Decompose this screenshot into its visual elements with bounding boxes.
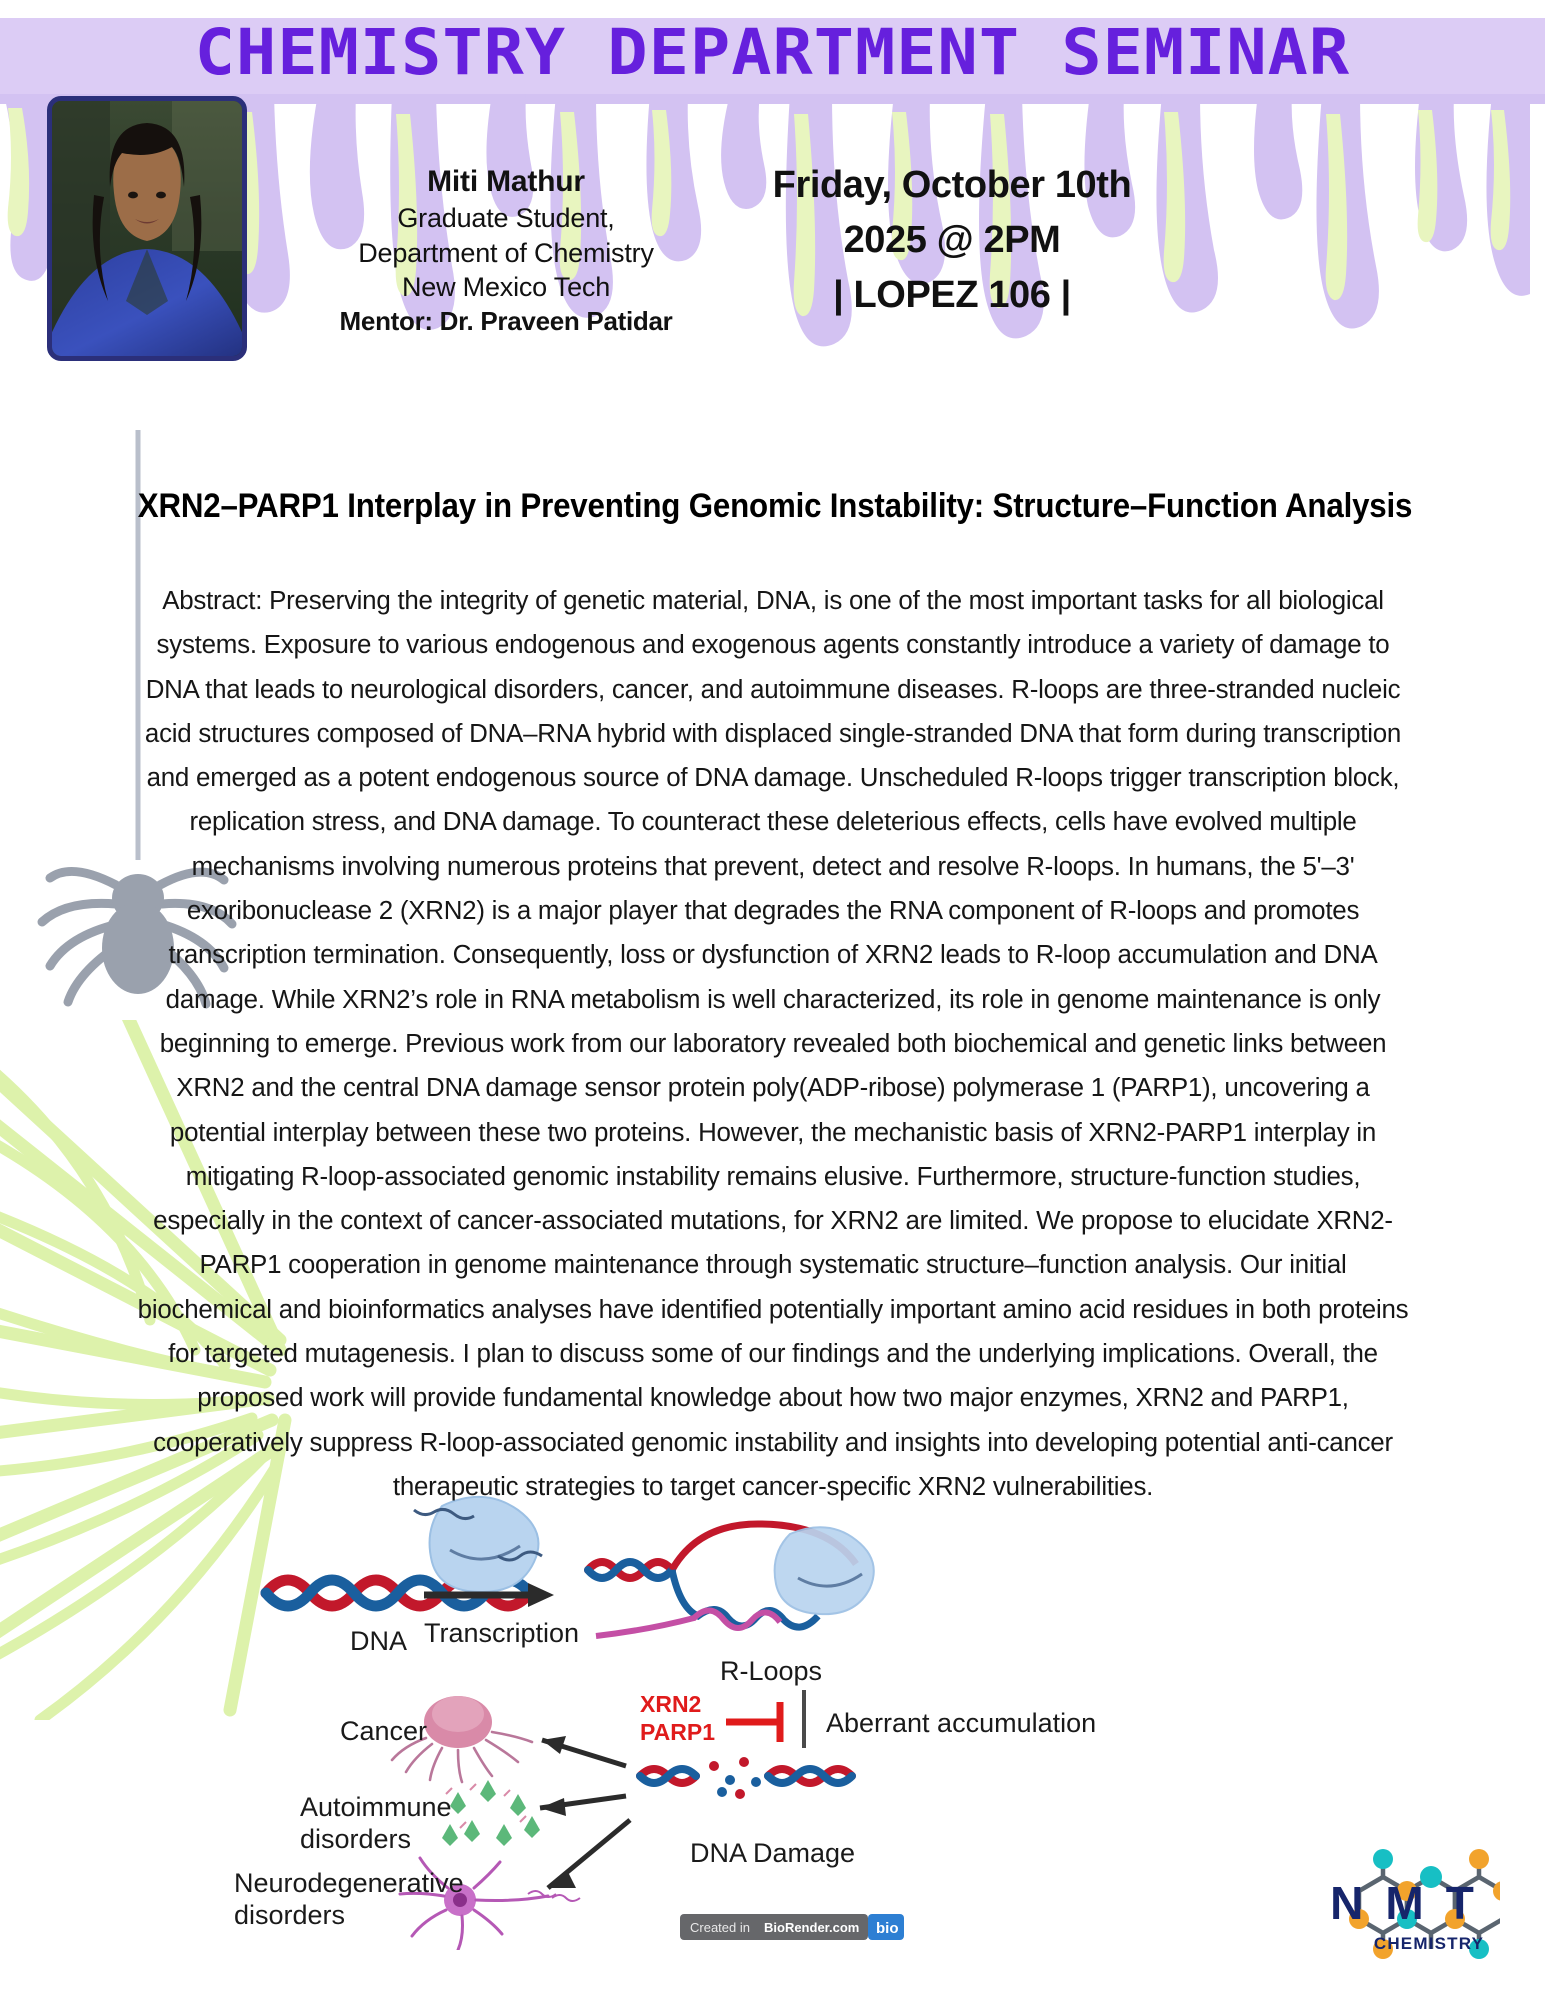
diagram-label-autoimmune-1: Autoimmune xyxy=(300,1792,452,1822)
talk-title: XRN2–PARP1 Interplay in Preventing Genom… xyxy=(99,487,1451,526)
logo-subtitle: CHEMISTRY xyxy=(1374,1934,1484,1953)
speaker-mentor: Mentor: Dr. Praveen Patidar xyxy=(286,305,726,339)
watermark-brand: BioRender.com xyxy=(764,1920,859,1935)
diagram-label-rloops: R-Loops xyxy=(720,1656,822,1686)
speaker-role: Graduate Student, xyxy=(286,201,726,236)
speaker-name: Miti Mathur xyxy=(286,162,726,201)
diagram-label-autoimmune-2: disorders xyxy=(300,1824,411,1854)
event-details: Friday, October 10th 2025 @ 2PM | LOPEZ … xyxy=(742,158,1162,323)
inhibition-arrow-icon xyxy=(726,1702,780,1742)
diagram-label-transcription: Transcription xyxy=(424,1618,579,1648)
rna-polymerase-icon xyxy=(414,1497,542,1592)
rloop-structure-icon xyxy=(588,1524,874,1636)
event-location: | LOPEZ 106 | xyxy=(742,268,1162,323)
outcome-arrows-icon xyxy=(540,1740,630,1888)
diagram-label-dna: DNA xyxy=(350,1626,407,1656)
event-date-line1: Friday, October 10th xyxy=(742,158,1162,213)
biorender-diagram: DNA Transcription R-Loops XRN2 xyxy=(228,1490,1308,1950)
page-title: CHEMISTRY DEPARTMENT SEMINAR xyxy=(0,16,1545,89)
biorender-watermark: Created in BioRender.com bio xyxy=(680,1914,904,1940)
diagram-label-neuro-1: Neurodegenerative xyxy=(234,1868,464,1898)
diagram-label-cancer: Cancer xyxy=(340,1716,427,1746)
nmt-chemistry-logo: NMT CHEMISTRY xyxy=(1325,1845,1500,1980)
watermark-tag: bio xyxy=(876,1920,899,1937)
speaker-institution: New Mexico Tech xyxy=(286,270,726,305)
diagram-label-xrn2: XRN2 xyxy=(640,1691,701,1717)
diagram-label-dna-damage: DNA Damage xyxy=(690,1838,855,1868)
event-date-line2: 2025 @ 2PM xyxy=(742,213,1162,268)
talk-abstract: Abstract: Preserving the integrity of ge… xyxy=(138,578,1409,1508)
diagram-label-aberrant: Aberrant accumulation xyxy=(826,1708,1096,1738)
speaker-photo xyxy=(47,96,247,361)
antibody-cluster-icon xyxy=(442,1780,540,1846)
watermark-prefix: Created in xyxy=(690,1920,750,1935)
logo-letters: NMT xyxy=(1330,1877,1496,1929)
speaker-department: Department of Chemistry xyxy=(286,236,726,271)
speaker-info: Miti Mathur Graduate Student, Department… xyxy=(286,162,726,338)
diagram-label-parp1: PARP1 xyxy=(640,1719,715,1745)
diagram-label-neuro-2: disorders xyxy=(234,1900,345,1930)
damaged-dna-icon xyxy=(640,1757,852,1799)
